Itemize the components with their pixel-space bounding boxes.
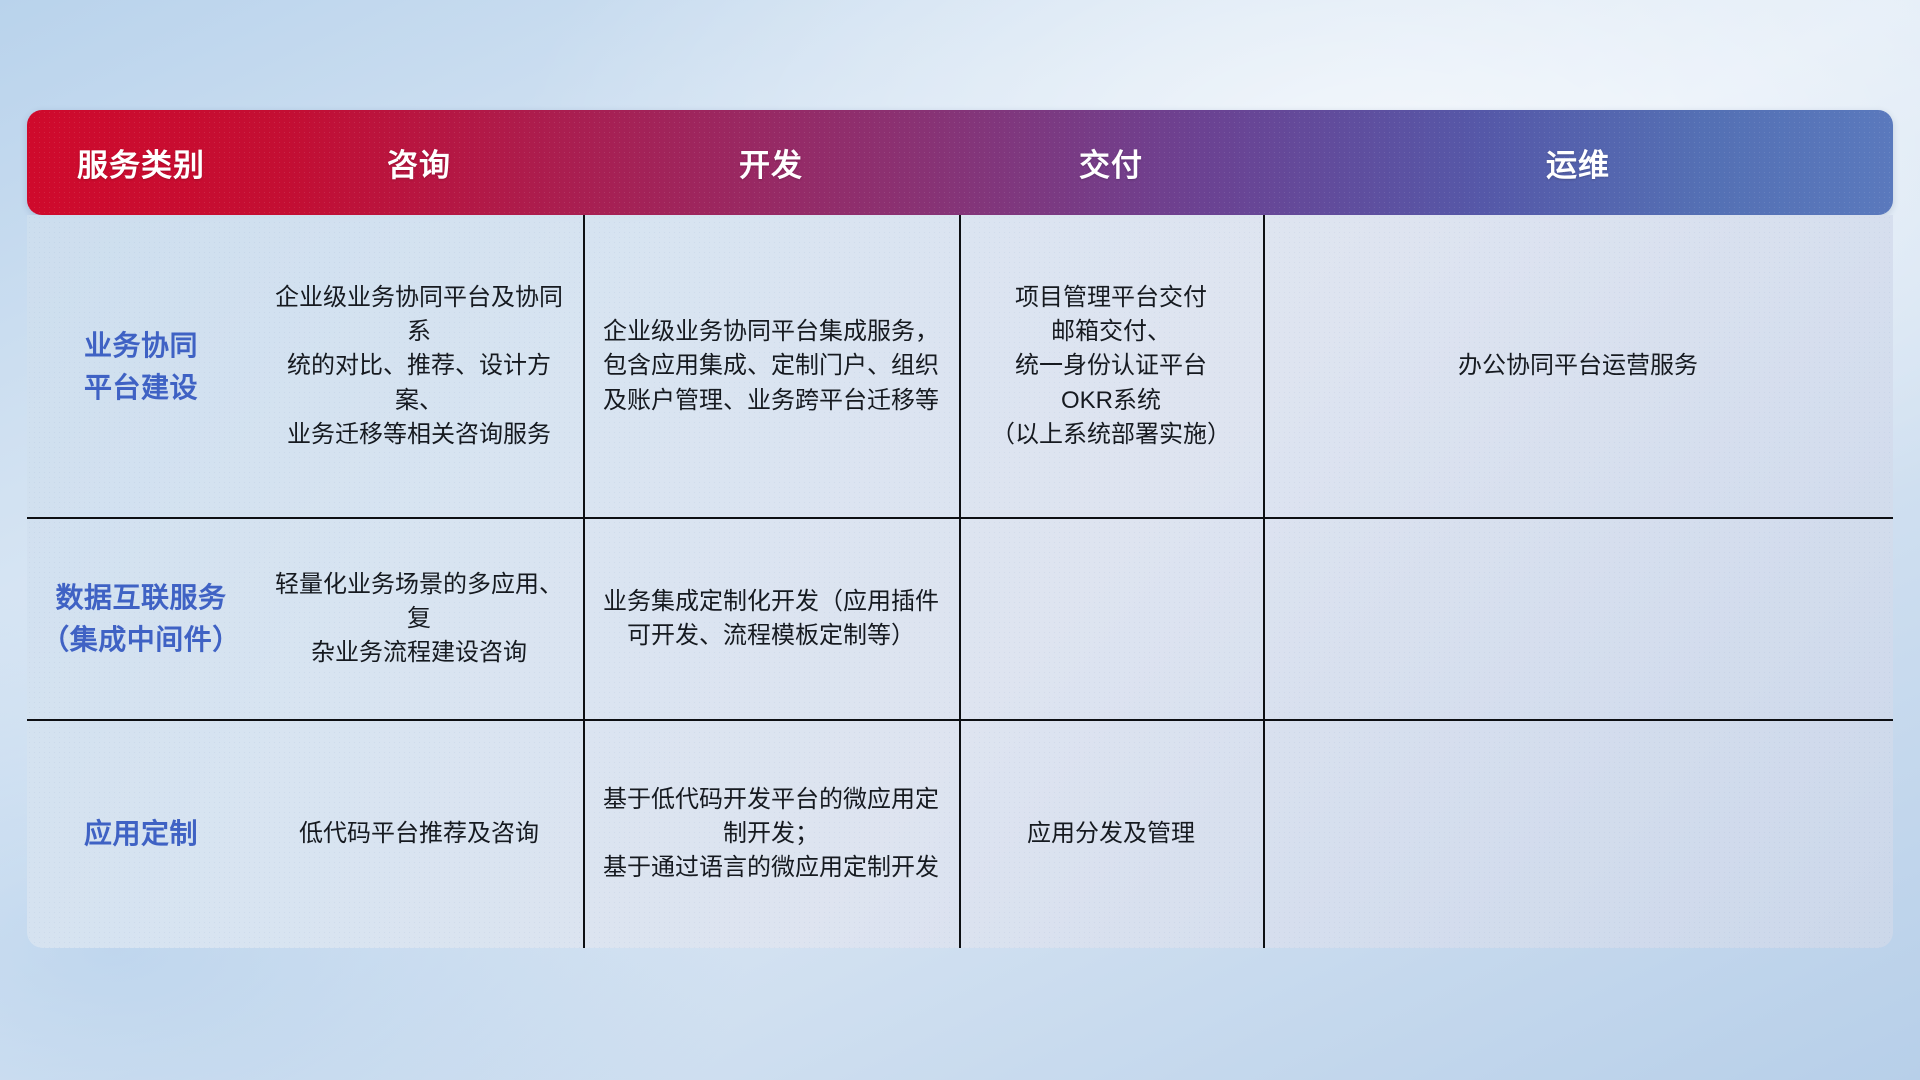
column-header-consulting: 咨询 [255,140,583,185]
cell-development: 企业级业务协同平台集成服务， 包含应用集成、定制门户、组织 及账户管理、业务跨平… [583,311,959,421]
cell-consulting: 轻量化业务场景的多应用、复 杂业务流程建设咨询 [255,564,583,674]
column-header-delivery: 交付 [959,140,1263,185]
table-body: 业务协同 平台建设 企业级业务协同平台及协同系 统的对比、推荐、设计方案、 业务… [27,215,1893,948]
cell-consulting: 低代码平台推荐及咨询 [255,813,583,855]
column-header-operations: 运维 [1263,140,1893,185]
cell-consulting: 企业级业务协同平台及协同系 统的对比、推荐、设计方案、 业务迁移等相关咨询服务 [255,277,583,455]
cell-delivery [959,615,1263,623]
column-divider-1 [583,215,585,948]
column-divider-3 [1263,215,1265,948]
table-header-row: 服务类别 咨询 开发 交付 运维 [27,110,1893,215]
cell-delivery: 项目管理平台交付 邮箱交付、 统一身份认证平台 OKR系统 （以上系统部署实施） [959,277,1263,455]
cell-delivery: 应用分发及管理 [959,813,1263,855]
service-matrix-table: 服务类别 咨询 开发 交付 运维 业务协同 平台建设 企业级业务协同平台及协同系… [27,110,1893,948]
page-background: 服务类别 咨询 开发 交付 运维 业务协同 平台建设 企业级业务协同平台及协同系… [0,0,1920,1080]
cell-development: 业务集成定制化开发（应用插件 可开发、流程模板定制等） [583,581,959,657]
cell-operations [1263,830,1893,838]
column-header-category: 服务类别 [27,140,255,185]
cell-development: 基于低代码开发平台的微应用定 制开发； 基于通过语言的微应用定制开发 [583,779,959,889]
cell-operations: 办公协同平台运营服务 [1263,345,1893,387]
cell-category: 数据互联服务 （集成中间件） [27,573,255,665]
column-header-development: 开发 [583,140,959,185]
cell-category: 业务协同 平台建设 [27,321,255,413]
cell-category: 应用定制 [27,809,255,859]
column-divider-2 [959,215,961,948]
cell-operations [1263,615,1893,623]
